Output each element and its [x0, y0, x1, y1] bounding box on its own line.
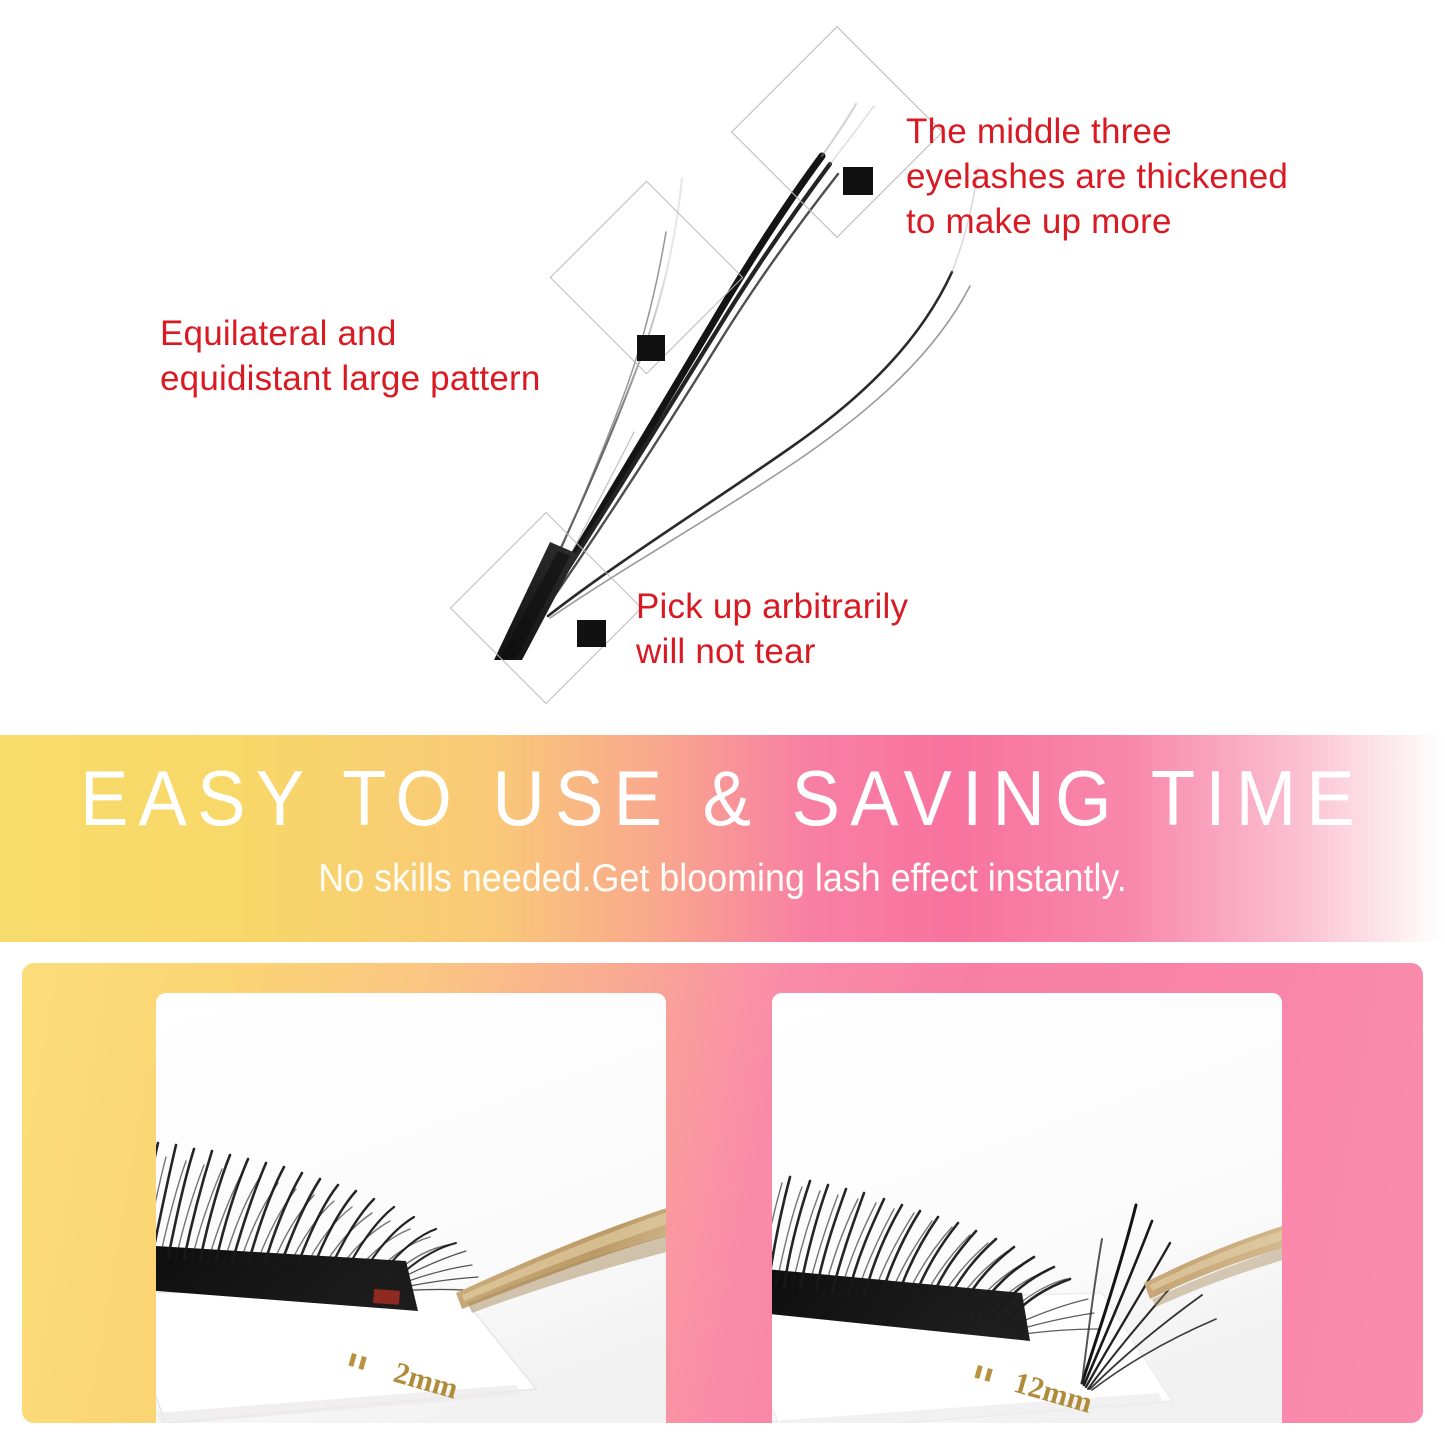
callout-marker-pick-up [577, 620, 606, 647]
banner-subheadline: No skills needed.Get blooming lash effec… [58, 857, 1387, 901]
banner-headline: EASY TO USE & SAVING TIME [51, 759, 1395, 837]
promo-banner: EASY TO USE & SAVING TIME No skills need… [0, 735, 1445, 942]
product-photo-panel: 2mm [22, 963, 1423, 1423]
feature-diagram-section: The middle three eyelashes are thickened… [0, 0, 1445, 735]
product-infographic-page: The middle three eyelashes are thickened… [0, 0, 1445, 1445]
photo-card-lash-fan-pickup: 12mm [772, 993, 1282, 1423]
callout-marker-equilateral [637, 335, 665, 361]
lash-tray-tweezers-photo: 2mm [156, 993, 666, 1423]
callout-text-pick-up: Pick up arbitrarily will not tear [636, 585, 1056, 675]
callout-marker-middle-three [843, 167, 873, 195]
callout-text-equilateral: Equilateral and equidistant large patter… [160, 312, 630, 402]
photo-card-lash-tray-with-tweezers: 2mm [156, 993, 666, 1423]
callout-text-middle-three: The middle three eyelashes are thickened… [906, 110, 1346, 244]
lash-fan-pickup-photo: 12mm [772, 993, 1282, 1423]
